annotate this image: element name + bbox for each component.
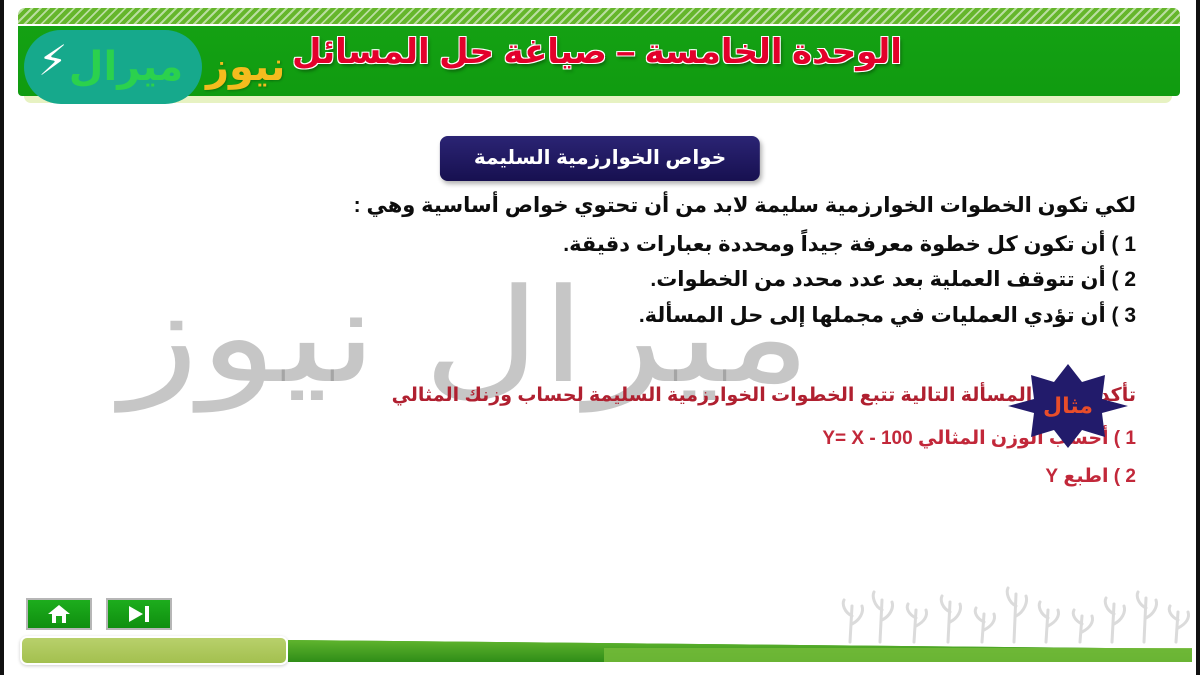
example-block: تأكد من أن المسألة التالية تتبع الخطوات … bbox=[44, 382, 1136, 502]
eight-point-star-icon bbox=[1002, 362, 1134, 450]
logo-badge-label: ميرال bbox=[69, 47, 183, 87]
slide-navigation bbox=[26, 598, 172, 630]
grass-decoration-icon bbox=[832, 580, 1192, 644]
header-hatched-strip bbox=[18, 8, 1180, 26]
home-icon bbox=[46, 603, 72, 625]
list-item: 3 ) أن تؤدي العمليات في مجملها إلى حل ال… bbox=[44, 300, 1136, 333]
example-intro: تأكد من أن المسألة التالية تتبع الخطوات … bbox=[44, 382, 1136, 411]
logo-word-news: نيوز bbox=[206, 47, 285, 87]
example-step: 2 ) اطبع Y bbox=[44, 463, 1136, 492]
footer-green-stripe-light bbox=[604, 648, 1192, 662]
list-item: 1 ) أن تكون كل خطوة معرفة جيداً ومحددة ب… bbox=[44, 229, 1136, 262]
section-heading: خواص الخوارزمية السليمة bbox=[440, 136, 760, 181]
list-item: 2 ) أن تتوقف العملية بعد عدد محدد من الخ… bbox=[44, 264, 1136, 297]
slide-header: الوحدة الخامسة – صياغة حل المسائل نيوز ⚡… bbox=[14, 8, 1180, 112]
content-body: لكي تكون الخطوات الخوارزمية سليمة لابد م… bbox=[44, 190, 1136, 335]
presentation-slide: الوحدة الخامسة – صياغة حل المسائل نيوز ⚡… bbox=[0, 0, 1200, 675]
next-button[interactable] bbox=[106, 598, 172, 630]
next-icon bbox=[125, 604, 153, 624]
logo-badge: ⚡ ميرال bbox=[24, 30, 202, 104]
example-step-equation: Y= X - 100 bbox=[822, 425, 912, 454]
brand-logo: نيوز ⚡ ميرال bbox=[24, 30, 285, 104]
home-button[interactable] bbox=[26, 598, 92, 630]
lightning-bolt-icon: ⚡ bbox=[38, 40, 68, 82]
intro-paragraph: لكي تكون الخطوات الخوارزمية سليمة لابد م… bbox=[44, 190, 1136, 223]
footer-progress-pill bbox=[20, 636, 288, 665]
example-step: 1 ) أحسب الوزن المثالي Y= X - 100 bbox=[44, 425, 1136, 454]
example-star-badge: مثال bbox=[1002, 362, 1134, 450]
